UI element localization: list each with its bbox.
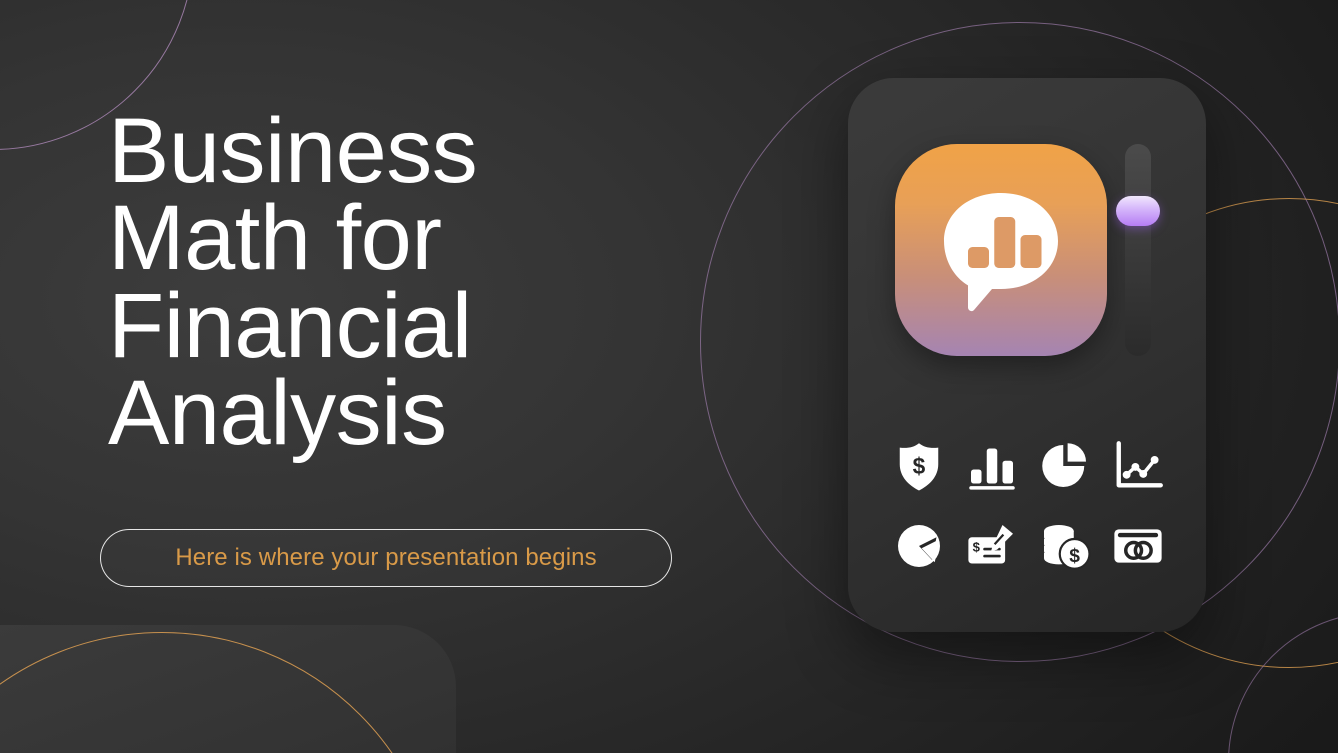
slide-text-column: Business Math for Financial Analysis [108, 108, 728, 458]
bottom-left-panel [0, 625, 456, 753]
device-card: $ [848, 78, 1206, 632]
bar-chart-icon[interactable] [964, 438, 1020, 494]
chat-bar-chart-icon[interactable] [895, 144, 1107, 356]
coin-stack-dollar-icon[interactable]: $ [1037, 518, 1093, 574]
page-title: Business Math for Financial Analysis [108, 108, 728, 458]
check-pen-icon[interactable]: $ [964, 518, 1020, 574]
svg-text:$: $ [972, 539, 980, 554]
shield-dollar-icon[interactable]: $ [891, 438, 947, 494]
svg-text:$: $ [912, 453, 925, 479]
subtitle-text: Here is where your presentation begins [175, 544, 596, 572]
subtitle-pill[interactable]: Here is where your presentation begins [100, 529, 672, 587]
credit-card-icon[interactable] [1110, 518, 1166, 574]
slider-handle[interactable] [1116, 196, 1160, 226]
vertical-slider[interactable] [1125, 144, 1151, 356]
presentation-slide: Business Math for Financial Analysis Her… [0, 0, 1338, 753]
pie-chart-icon[interactable] [1037, 438, 1093, 494]
svg-text:$: $ [1069, 546, 1080, 567]
pie-slice-icon[interactable] [891, 518, 947, 574]
finance-icon-grid: $ [882, 438, 1174, 574]
line-graph-icon[interactable] [1110, 438, 1166, 494]
purple-circle-bottom-right-icon [1228, 612, 1338, 753]
